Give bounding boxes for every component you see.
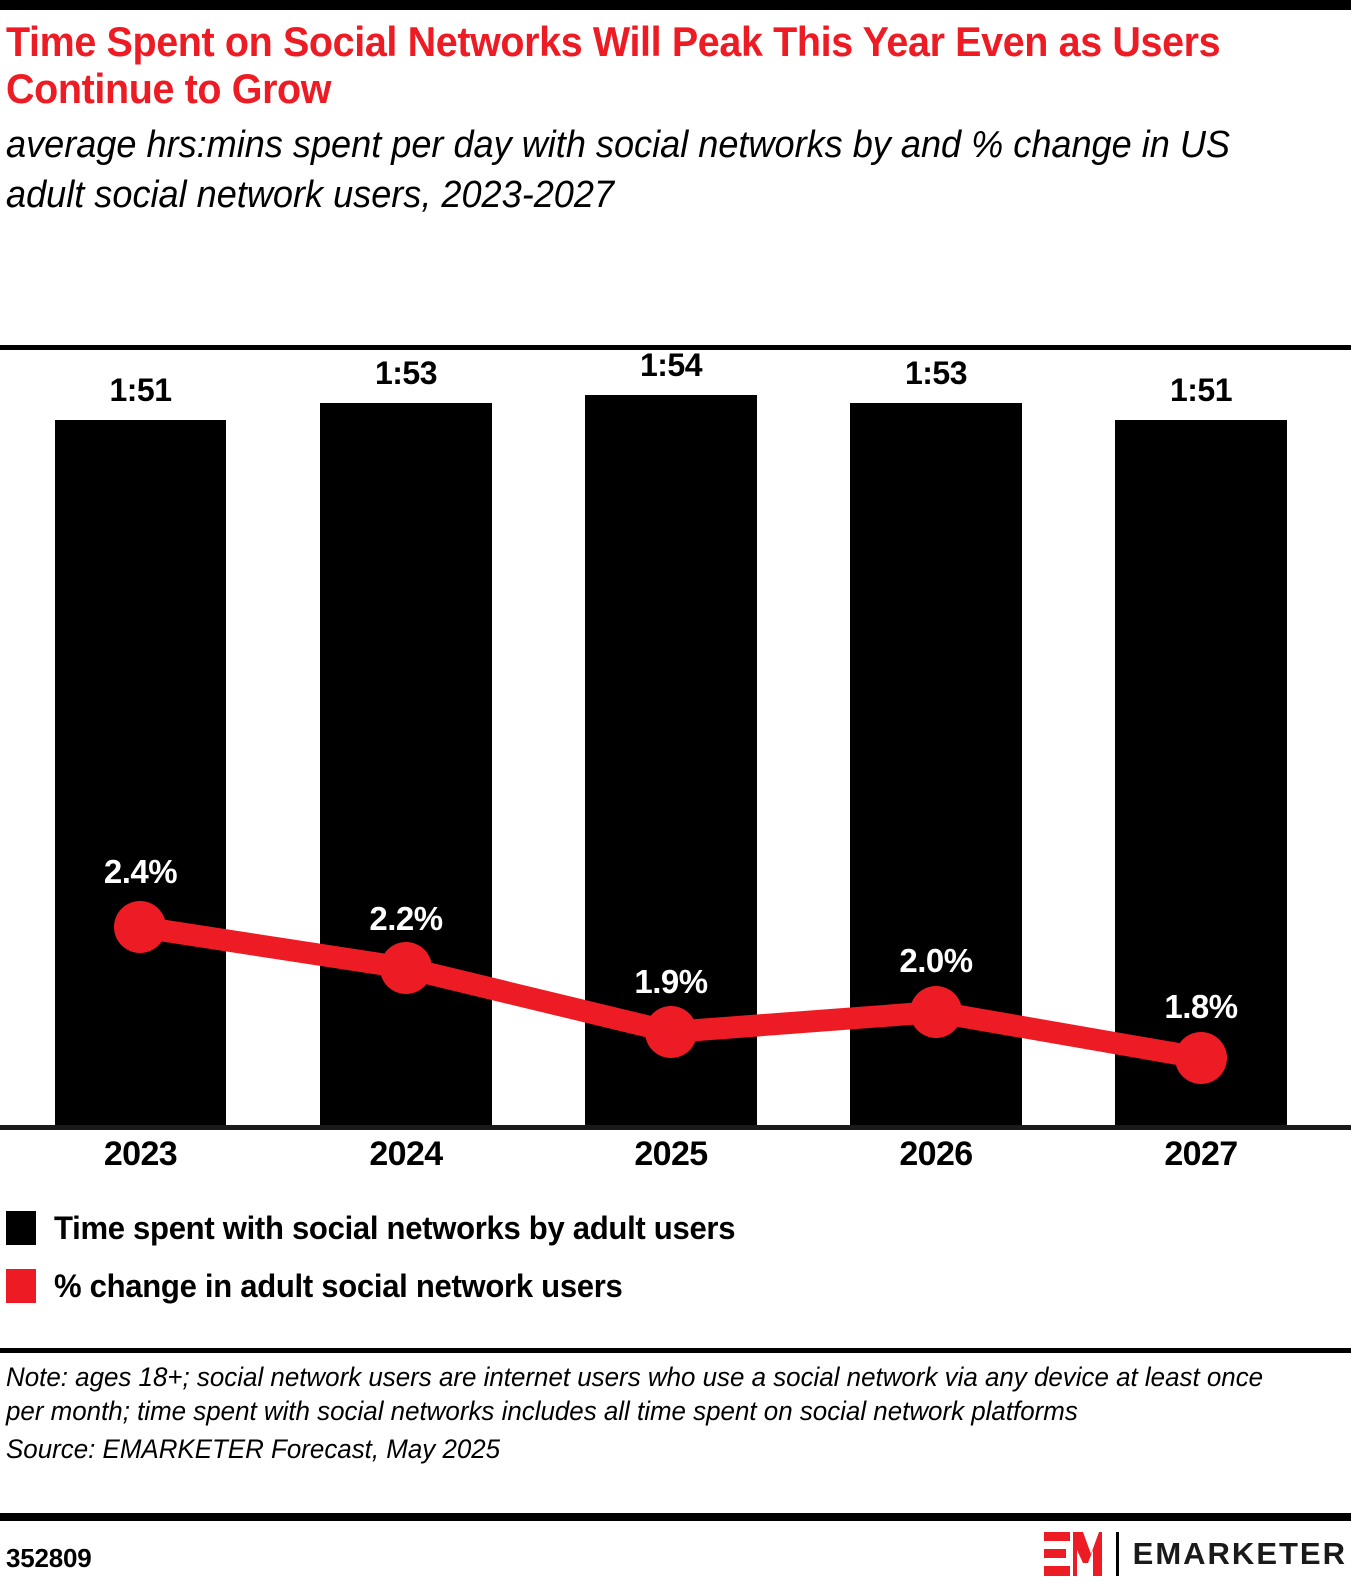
- pct-label-2025: 1.9%: [585, 963, 757, 1001]
- page-subtitle: average hrs:mins spent per day with soci…: [6, 120, 1241, 220]
- x-tick-2025: 2025: [585, 1135, 757, 1174]
- x-axis-rule: [0, 1125, 1351, 1130]
- pct-label-2027: 1.8%: [1115, 988, 1287, 1026]
- chart-header: Time Spent on Social Networks Will Peak …: [0, 18, 1330, 220]
- x-tick-2026: 2026: [850, 1135, 1022, 1174]
- plot-area: 1:51 1:53 1:54 1:53 1:51 2.4% 2.2% 1.9% …: [0, 350, 1351, 1125]
- note-rule-top: [0, 1348, 1351, 1353]
- legend-label-pct-change: % change in adult social network users: [54, 1268, 623, 1305]
- pct-label-2026: 2.0%: [850, 942, 1022, 980]
- pct-label-2023: 2.4%: [55, 853, 226, 891]
- note-rule-bottom: [0, 1513, 1351, 1521]
- x-axis-labels: 2023 2024 2025 2026 2027: [0, 1135, 1351, 1187]
- x-tick-2023: 2023: [55, 1135, 226, 1174]
- emarketer-logo: EMARKETER: [1044, 1531, 1347, 1577]
- legend-item-pct-change: % change in adult social network users: [6, 1263, 1346, 1309]
- page-title: Time Spent on Social Networks Will Peak …: [6, 18, 1243, 112]
- pct-label-2024: 2.2%: [320, 900, 492, 938]
- line-marker-2024: [380, 942, 432, 994]
- logo-wordmark: EMARKETER: [1133, 1536, 1347, 1572]
- line-marker-2025: [645, 1006, 697, 1058]
- legend-swatch-black: [6, 1211, 36, 1245]
- line-marker-2027: [1175, 1032, 1227, 1084]
- chart-id: 352809: [6, 1543, 92, 1574]
- x-tick-2027: 2027: [1115, 1135, 1287, 1174]
- legend-swatch-red: [6, 1269, 36, 1303]
- line-marker-2026: [910, 986, 962, 1038]
- top-rule: [0, 0, 1351, 10]
- line-marker-2023: [114, 901, 166, 953]
- logo-divider: [1116, 1532, 1119, 1576]
- note-text: Note: ages 18+; social network users are…: [6, 1360, 1283, 1428]
- chart-footer: 352809 EMARKETER: [0, 1521, 1351, 1583]
- chart-legend: Time spent with social networks by adult…: [6, 1205, 1346, 1321]
- legend-item-time-spent: Time spent with social networks by adult…: [6, 1205, 1346, 1251]
- legend-label-time-spent: Time spent with social networks by adult…: [54, 1210, 735, 1247]
- em-logo-icon: [1044, 1532, 1102, 1576]
- x-tick-2024: 2024: [320, 1135, 492, 1174]
- chart-notes: Note: ages 18+; social network users are…: [6, 1360, 1336, 1466]
- source-text: Source: EMARKETER Forecast, May 2025: [6, 1432, 1283, 1466]
- chart-page: Time Spent on Social Networks Will Peak …: [0, 0, 1351, 1583]
